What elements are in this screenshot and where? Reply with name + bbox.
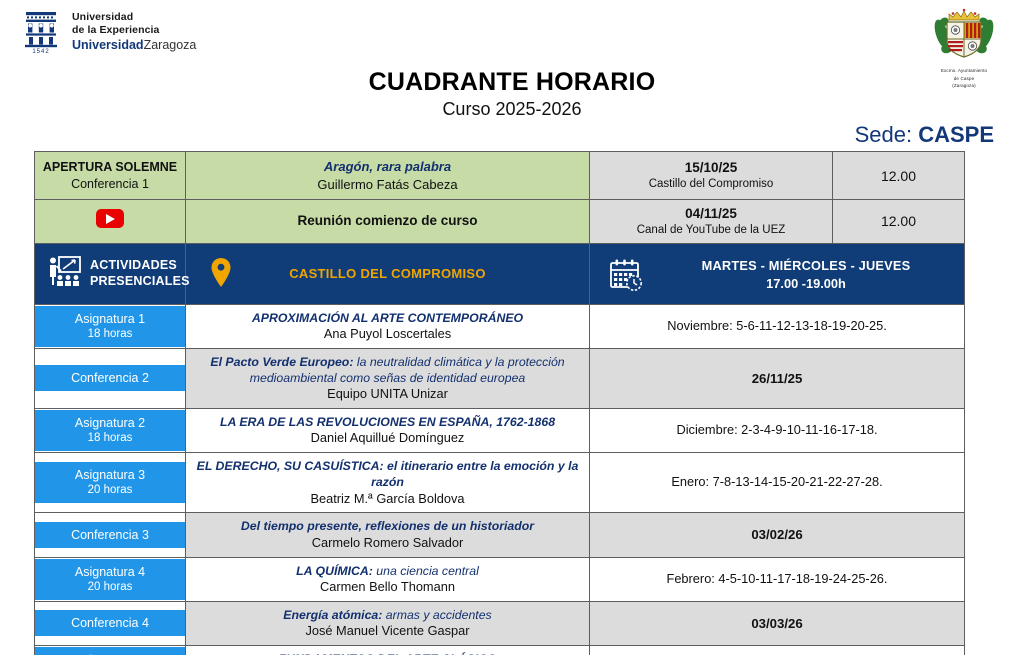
row-speaker: José Manuel Vicente Gaspar — [193, 623, 582, 640]
band-activities-line-1: ACTIVIDADES — [90, 258, 190, 274]
row-when-cell: Diciembre: 2-3-4-9-10-11-16-17-18. — [590, 409, 965, 453]
row-label-cell: Asignatura 218 horas — [35, 409, 186, 453]
page-subtitle: Curso 2025-2026 — [0, 99, 1024, 120]
table-row: Conferencia 4Energía atómica: armas y ac… — [35, 601, 965, 645]
row-subject-cell: Energía atómica: armas y accidentesJosé … — [186, 601, 590, 645]
row-title: FUNDAMENTOS DEL ARTE CLÁSICO — [193, 651, 582, 655]
row-subject-cell: Del tiempo presente, reflexiones de un h… — [186, 513, 590, 557]
schedule-rows: Asignatura 118 horasAPROXIMACIÓN AL ARTE… — [35, 304, 965, 655]
row-when-line: 03/03/26 — [594, 615, 960, 632]
svg-text:1542: 1542 — [32, 49, 49, 54]
row-label-bottom: 18 horas — [38, 327, 182, 342]
band-place-cell: CASTILLO DEL COMPROMISO — [186, 243, 590, 304]
university-building-icon: 1542 — [20, 8, 62, 54]
table-row: Asignatura 520 horasFUNDAMENTOS DEL ARTE… — [35, 645, 965, 655]
row-speaker: Beatriz M.ª García Boldova — [193, 491, 582, 508]
university-line-2: de la Experiencia — [72, 24, 196, 36]
opening-2-body-cell: Reunión comienzo de curso — [186, 200, 590, 243]
row-when-line: 03/02/26 — [594, 526, 960, 543]
row-when-cell: Febrero: 4-5-10-11-17-18-19-24-25-26. — [590, 557, 965, 601]
row-speaker: Daniel Aquillué Domínguez — [193, 430, 582, 447]
row-when-cell: Marzo: 4-5-10-11-12-17-18-19-24-25. — [590, 645, 965, 655]
university-brand-bold: Universidad — [72, 38, 144, 52]
row-title-plain: la neutralidad climática y la protección… — [250, 355, 565, 385]
venue-label: Sede: CASPE — [855, 122, 994, 148]
band-activities-label: ACTIVIDADES PRESENCIALES — [90, 258, 190, 289]
row-when-line: 26/11/25 — [594, 370, 960, 387]
table-row: Asignatura 420 horasLA QUÍMICA: una cien… — [35, 557, 965, 601]
row-title: El Pacto Verde Europeo: la neutralidad c… — [193, 354, 582, 386]
presentation-board-icon — [47, 255, 81, 292]
row-title-plain: armas y accidentes — [382, 608, 491, 622]
opening-2-date-cell: 04/11/25 Canal de YouTube de la UEZ — [590, 200, 833, 243]
row-speaker: Carmen Bello Thomann — [193, 579, 582, 596]
row-title: APROXIMACIÓN AL ARTE CONTEMPORÁNEO — [193, 310, 582, 326]
table-row-opening-1: APERTURA SOLEMNE Conferencia 1 Aragón, r… — [35, 152, 965, 200]
row-title: LA QUÍMICA: una ciencia central — [193, 563, 582, 579]
page-title: CUADRANTE HORARIO — [0, 68, 1024, 97]
opening-1-label-cell: APERTURA SOLEMNE Conferencia 1 — [35, 152, 186, 200]
table-row-band: ACTIVIDADES PRESENCIALES CASTIL — [35, 243, 965, 304]
table-row: Asignatura 118 horasAPROXIMACIÓN AL ARTE… — [35, 304, 965, 348]
row-when-cell: Enero: 7-8-13-14-15-20-21-22-27-28. — [590, 453, 965, 513]
row-label-top: Conferencia 3 — [38, 527, 182, 543]
row-label-cell: Conferencia 2 — [35, 348, 186, 408]
row-when-line: Febrero: 4-5-10-11-17-18-19-24-25-26. — [594, 571, 960, 588]
calendar-clock-icon — [608, 258, 646, 297]
opening-1-place: Castillo del Compromiso — [594, 177, 828, 192]
row-label-bottom: 20 horas — [38, 580, 182, 595]
row-label-bottom: 20 horas — [38, 483, 182, 498]
row-title: Del tiempo presente, reflexiones de un h… — [193, 518, 582, 534]
opening-2-title: Reunión comienzo de curso — [192, 212, 583, 230]
row-label-top: Asignatura 3 — [38, 467, 182, 483]
row-title-plain: una ciencia central — [373, 564, 479, 578]
row-label-cell: Conferencia 3 — [35, 513, 186, 557]
row-label-cell: Conferencia 4 — [35, 601, 186, 645]
row-when-cell: 26/11/25 — [590, 348, 965, 408]
table-row: Asignatura 320 horasEL DERECHO, SU CASUÍ… — [35, 453, 965, 513]
table-row: Conferencia 2El Pacto Verde Europeo: la … — [35, 348, 965, 408]
row-when-cell: Noviembre: 5-6-11-12-13-18-19-20-25. — [590, 304, 965, 348]
opening-1-title: Aragón, rara palabra — [192, 158, 583, 176]
row-label-cell: Asignatura 420 horas — [35, 557, 186, 601]
table-row: Conferencia 3Del tiempo presente, reflex… — [35, 513, 965, 557]
opening-2-time: 12.00 — [833, 200, 965, 243]
opening-1-time: 12.00 — [833, 152, 965, 200]
row-label-top: Asignatura 4 — [38, 564, 182, 580]
band-activities-line-2: PRESENCIALES — [90, 274, 190, 290]
schedule-table: APERTURA SOLEMNE Conferencia 1 Aragón, r… — [34, 151, 965, 655]
opening-1-body-cell: Aragón, rara palabra Guillermo Fatás Cab… — [186, 152, 590, 200]
opening-2-place: Canal de YouTube de la UEZ — [594, 223, 828, 238]
opening-2-date: 04/11/25 — [594, 205, 828, 223]
row-when-line: Diciembre: 2-3-4-9-10-11-16-17-18. — [594, 422, 960, 439]
row-label-top: Asignatura 1 — [38, 311, 182, 327]
youtube-icon[interactable] — [96, 209, 124, 228]
row-speaker: Equipo UNITA Unizar — [193, 386, 582, 403]
university-brand-rest: Zaragoza — [144, 38, 197, 52]
opening-1-label-bottom: Conferencia 1 — [39, 176, 181, 192]
row-title: EL DERECHO, SU CASUÍSTICA: el itinerario… — [193, 458, 582, 490]
university-brand: UniversidadZaragoza — [72, 38, 196, 53]
row-speaker: Ana Puyol Loscertales — [193, 326, 582, 343]
band-when-line-2: 17.00 -19.00h — [648, 275, 964, 294]
row-when-cell: 03/02/26 — [590, 513, 965, 557]
row-label-cell: Asignatura 520 horas — [35, 645, 186, 655]
row-label-bottom: 18 horas — [38, 431, 182, 446]
row-label-cell: Asignatura 118 horas — [35, 304, 186, 348]
row-subject-cell: APROXIMACIÓN AL ARTE CONTEMPORÁNEOAna Pu… — [186, 304, 590, 348]
opening-1-label-top: APERTURA SOLEMNE — [39, 159, 181, 175]
band-when-cell: MARTES - MIÉRCOLES - JUEVES 17.00 -19.00… — [590, 243, 965, 304]
band-when-line-1: MARTES - MIÉRCOLES - JUEVES — [648, 257, 964, 276]
row-subject-cell: LA ERA DE LAS REVOLUCIONES EN ESPAÑA, 17… — [186, 409, 590, 453]
row-subject-cell: El Pacto Verde Europeo: la neutralidad c… — [186, 348, 590, 408]
table-row-opening-2: Reunión comienzo de curso 04/11/25 Canal… — [35, 200, 965, 243]
row-speaker: Carmelo Romero Salvador — [193, 535, 582, 552]
opening-2-label-cell — [35, 200, 186, 243]
row-title: LA ERA DE LAS REVOLUCIONES EN ESPAÑA, 17… — [193, 414, 582, 430]
row-subject-cell: FUNDAMENTOS DEL ARTE CLÁSICOJorge N. Día… — [186, 645, 590, 655]
coat-of-arms-icon — [922, 4, 1006, 62]
band-activities-cell: ACTIVIDADES PRESENCIALES — [35, 243, 186, 304]
row-label-top: Conferencia 2 — [38, 370, 182, 386]
row-label-top: Conferencia 4 — [38, 615, 182, 631]
row-label-top: Asignatura 2 — [38, 415, 182, 431]
band-place-label: CASTILLO DEL COMPROMISO — [186, 266, 589, 281]
row-subject-cell: EL DERECHO, SU CASUÍSTICA: el itinerario… — [186, 453, 590, 513]
opening-1-date: 15/10/25 — [594, 159, 828, 177]
row-when-line: Noviembre: 5-6-11-12-13-18-19-20-25. — [594, 318, 960, 335]
opening-1-date-cell: 15/10/25 Castillo del Compromiso — [590, 152, 833, 200]
schedule-page: 1542 Universidad de la Experiencia Unive… — [0, 0, 1024, 655]
row-when-line: Enero: 7-8-13-14-15-20-21-22-27-28. — [594, 474, 960, 491]
university-logo: 1542 Universidad de la Experiencia Unive… — [20, 8, 196, 54]
table-row: Asignatura 218 horasLA ERA DE LAS REVOLU… — [35, 409, 965, 453]
row-subject-cell: LA QUÍMICA: una ciencia centralCarmen Be… — [186, 557, 590, 601]
row-title: Energía atómica: armas y accidentes — [193, 607, 582, 623]
university-line-1: Universidad — [72, 11, 196, 23]
schedule-table-body: APERTURA SOLEMNE Conferencia 1 Aragón, r… — [35, 152, 965, 305]
venue-name: CASPE — [918, 122, 994, 147]
opening-1-speaker: Guillermo Fatás Cabeza — [192, 176, 583, 194]
venue-prefix: Sede: — [855, 122, 919, 147]
row-label-cell: Asignatura 320 horas — [35, 453, 186, 513]
row-when-cell: 03/03/26 — [590, 601, 965, 645]
